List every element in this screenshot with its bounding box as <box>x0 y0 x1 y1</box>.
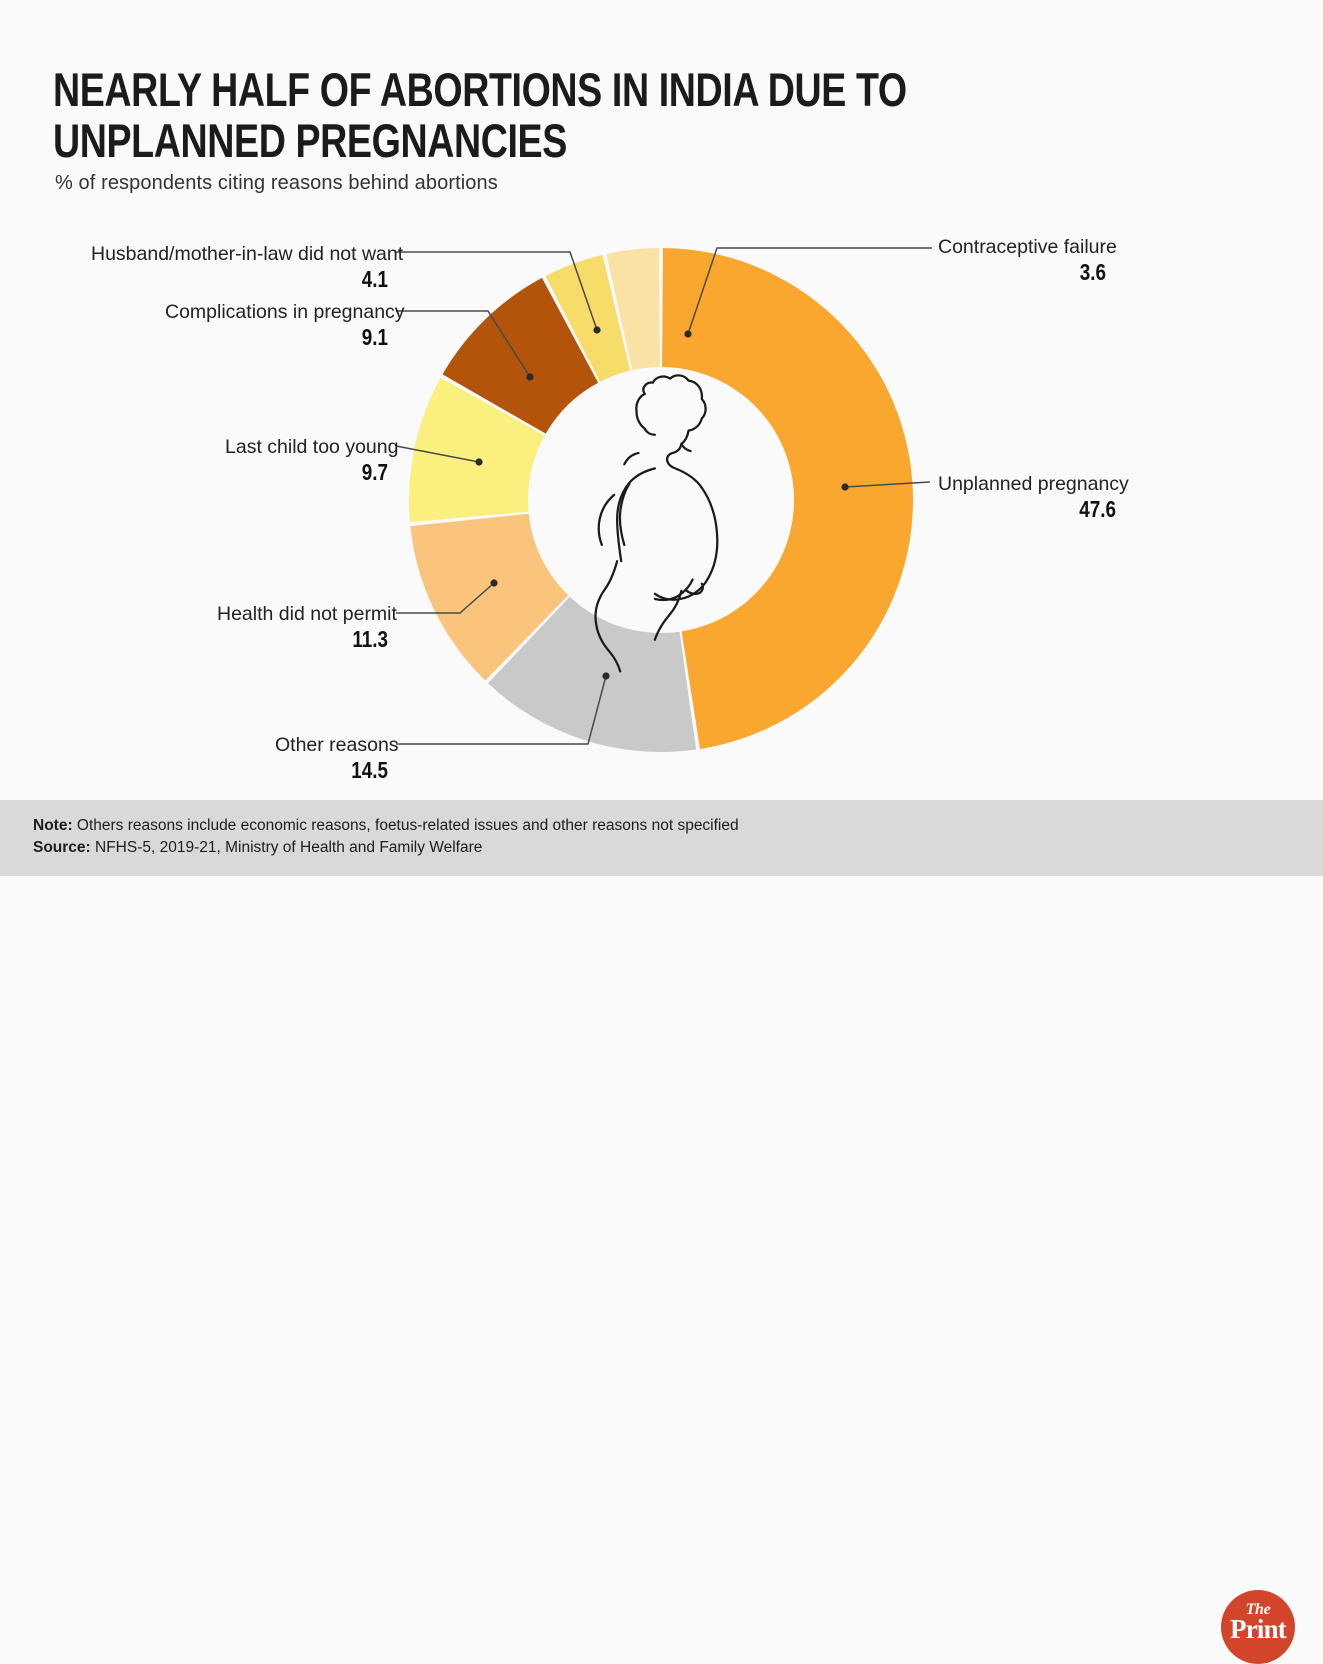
callout-last-child-too-young: Last child too young9.7 <box>225 435 388 486</box>
leader-endpoint-dot <box>475 458 482 465</box>
callout-value-text: 3.6 <box>968 259 1106 286</box>
callout-unplanned-pregnancy: Unplanned pregnancy47.6 <box>938 472 1116 523</box>
callout-label-text: Last child too young <box>225 435 388 459</box>
callout-label-text: Husband/mother-in-law did not want <box>91 242 388 266</box>
callout-value-text: 14.5 <box>295 757 388 784</box>
footer-source-label: Source: <box>33 839 91 856</box>
footer-note: Note: Others reasons include economic re… <box>33 817 739 835</box>
callout-complications: Complications in pregnancy9.1 <box>165 300 388 351</box>
callout-value-text: 47.6 <box>970 496 1116 523</box>
callout-contraceptive-failure: Contraceptive failure3.6 <box>938 235 1106 286</box>
leader-endpoint-dot <box>526 373 533 380</box>
donut-chart <box>0 0 1323 800</box>
footer-note-label: Note: <box>33 817 73 834</box>
callout-value-text: 4.1 <box>144 266 388 293</box>
infographic-page: Nearly half of abortions in India due to… <box>0 0 1323 876</box>
footer-source-text: NFHS-5, 2019-21, Ministry of Health and … <box>91 839 483 856</box>
callout-husband-mother-in-law: Husband/mother-in-law did not want4.1 <box>91 242 388 293</box>
callout-label-text: Complications in pregnancy <box>165 300 388 324</box>
callout-label-text: Contraceptive failure <box>938 235 1106 259</box>
callout-value-text: 9.1 <box>205 324 388 351</box>
logo-print-text: Print <box>1221 1615 1295 1643</box>
callout-label-text: Other reasons <box>275 733 388 757</box>
callout-value-text: 11.3 <box>248 626 388 653</box>
donut-slice[interactable] <box>662 248 913 749</box>
donut-chart-svg <box>0 0 1323 800</box>
footer-note-text: Others reasons include economic reasons,… <box>73 817 739 834</box>
callout-label-text: Health did not permit <box>217 602 388 626</box>
theprint-logo[interactable]: The Print <box>1221 1590 1295 1664</box>
leader-endpoint-dot <box>490 579 497 586</box>
callout-other-reasons: Other reasons14.5 <box>275 733 388 784</box>
donut-slices <box>409 248 913 752</box>
callout-label-text: Unplanned pregnancy <box>938 472 1116 496</box>
footer-source: Source: NFHS-5, 2019-21, Ministry of Hea… <box>33 839 482 857</box>
leader-endpoint-dot <box>841 483 848 490</box>
leader-endpoint-dot <box>602 672 609 679</box>
callout-health-did-not-permit: Health did not permit11.3 <box>217 602 388 653</box>
leader-endpoint-dot <box>593 326 600 333</box>
callout-value-text: 9.7 <box>254 459 388 486</box>
footer-bar: Note: Others reasons include economic re… <box>0 800 1323 876</box>
leader-endpoint-dot <box>684 330 691 337</box>
